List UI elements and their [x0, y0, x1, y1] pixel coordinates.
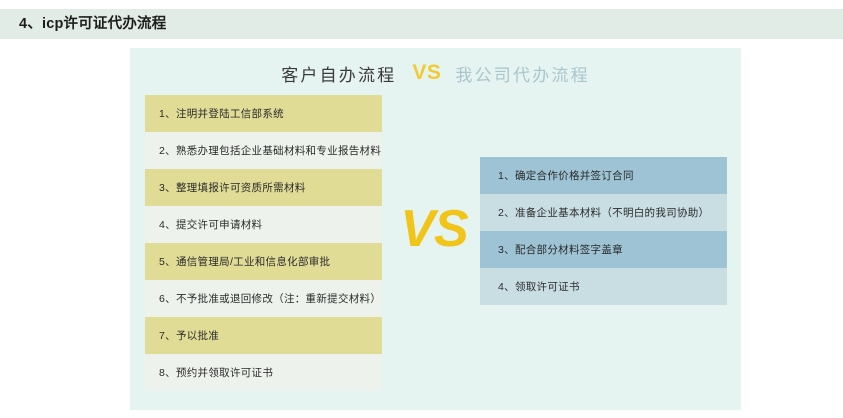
flow-step-left-7: 7、予以批准 — [145, 317, 382, 354]
flow-step-left-6: 6、不予批准或退回修改（注：重新提交材料） — [145, 280, 382, 317]
agency-flow-column: 1、确定合作价格并签订合同 2、准备企业基本材料（不明白的我司协助） 3、配合部… — [480, 157, 727, 305]
page-title: 4、icp许可证代办流程 — [0, 17, 166, 32]
comparison-heading: 客户自办流程 VS 我公司代办流程 — [130, 56, 741, 90]
flow-step-left-3: 3、整理填报许可资质所需材料 — [145, 169, 382, 206]
flow-step-left-8: 8、预约并领取许可证书 — [145, 354, 382, 391]
comparison-panel: 客户自办流程 VS 我公司代办流程 1、注明并登陆工信部系统 2、熟悉办理包括企… — [130, 48, 741, 410]
flow-step-left-4: 4、提交许可申请材料 — [145, 206, 382, 243]
flow-step-right-3: 3、配合部分材料签字盖章 — [480, 231, 727, 268]
flow-step-right-4: 4、领取许可证书 — [480, 268, 727, 305]
heading-vs-label: VS — [412, 61, 441, 85]
heading-right-label: 我公司代办流程 — [455, 61, 589, 86]
customer-flow-column: 1、注明并登陆工信部系统 2、熟悉办理包括企业基础材料和专业报告材料 3、整理填… — [145, 95, 382, 391]
section-header: 4、icp许可证代办流程 — [0, 9, 843, 39]
center-vs-label: VS — [388, 203, 480, 255]
flow-step-right-2: 2、准备企业基本材料（不明白的我司协助） — [480, 194, 727, 231]
flow-step-left-2: 2、熟悉办理包括企业基础材料和专业报告材料 — [145, 132, 382, 169]
heading-left-label: 客户自办流程 — [281, 61, 396, 86]
flow-step-left-1: 1、注明并登陆工信部系统 — [145, 95, 382, 132]
flow-step-left-5: 5、通信管理局/工业和信息化部审批 — [145, 243, 382, 280]
flow-step-right-1: 1、确定合作价格并签订合同 — [480, 157, 727, 194]
